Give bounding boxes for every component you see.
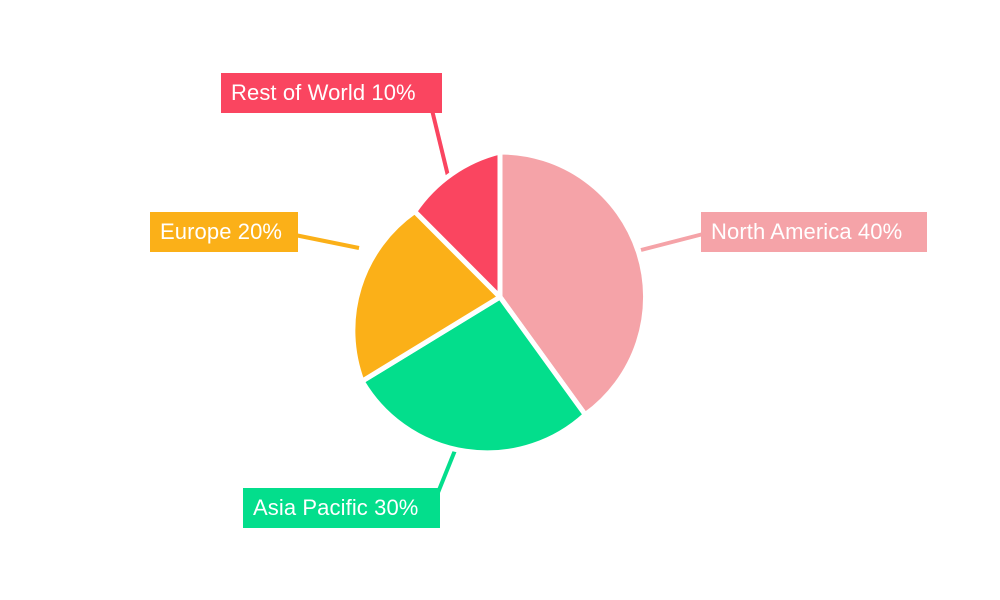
pie-label-asia-pacific[interactable]: Asia Pacific 30% xyxy=(243,488,440,528)
pie-chart-canvas xyxy=(0,0,1000,600)
pie-label-asia-pacific-text: Asia Pacific 30% xyxy=(253,497,418,519)
leader-line-europe xyxy=(290,234,359,248)
pie-label-europe[interactable]: Europe 20% xyxy=(150,212,298,252)
pie-label-rest-of-world-text: Rest of World 10% xyxy=(231,82,416,104)
pie-chart: North America 40% Asia Pacific 30% Europ… xyxy=(0,0,1000,600)
pie-label-north-america[interactable]: North America 40% xyxy=(701,212,927,252)
pie-slices xyxy=(353,152,646,453)
pie-label-rest-of-world[interactable]: Rest of World 10% xyxy=(221,73,442,113)
pie-label-north-america-text: North America 40% xyxy=(711,221,902,243)
pie-label-europe-text: Europe 20% xyxy=(160,221,282,243)
leader-line-rest-of-world xyxy=(432,110,449,180)
